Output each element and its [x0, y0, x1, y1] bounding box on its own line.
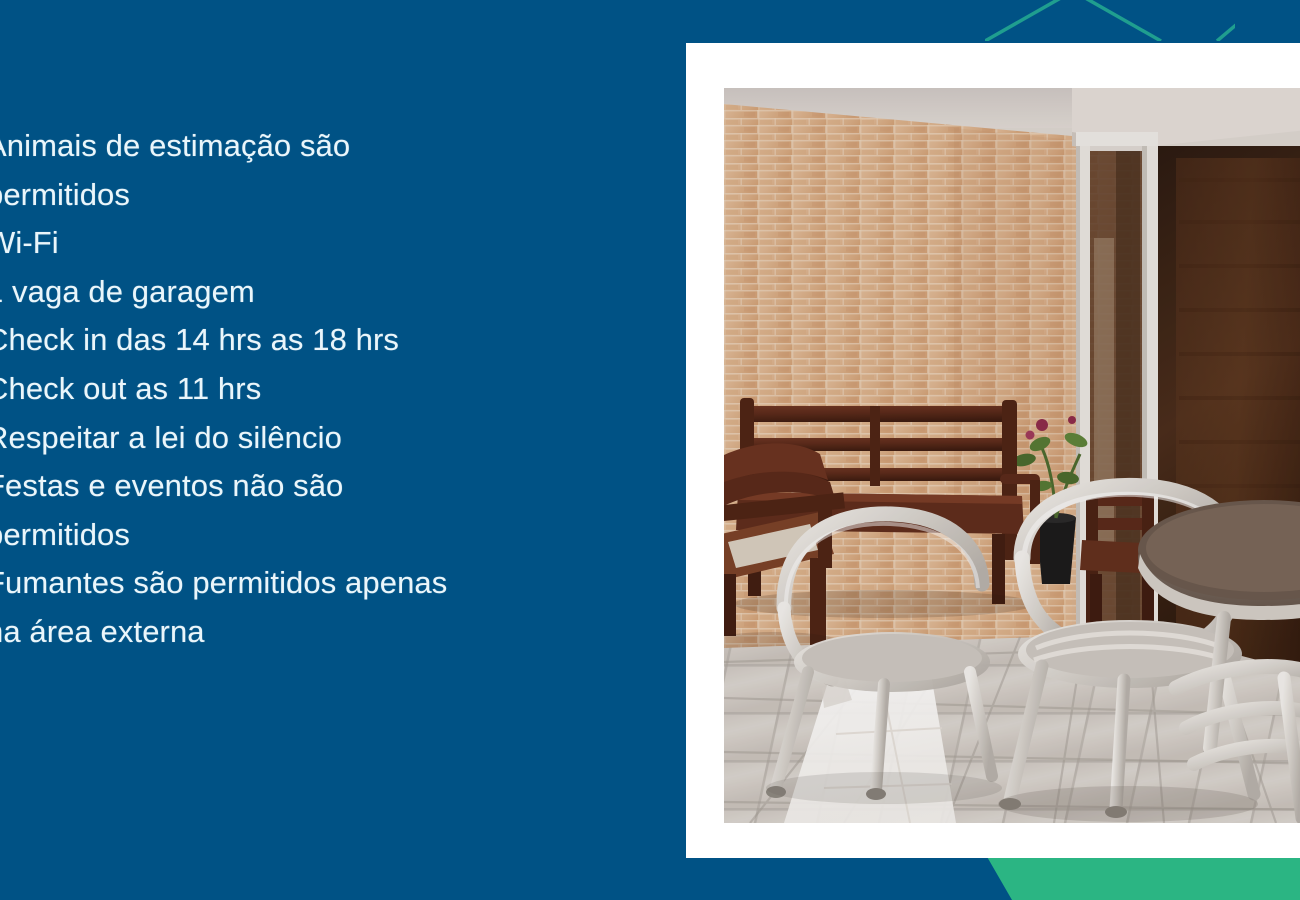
slide-canvas: Animais de estimação são permitidos Wi-F… — [0, 0, 1300, 900]
house-rules-list: Animais de estimação são permitidos Wi-F… — [0, 122, 606, 657]
house-rule-line: na área externa — [0, 608, 606, 657]
green-wedge-icon — [960, 855, 1300, 900]
house-rule-line: Animais de estimação são — [0, 122, 606, 171]
house-rule-line: Wi-Fi — [0, 219, 606, 268]
house-rule-line: Check out as 11 hrs — [0, 365, 606, 414]
house-rule-line: Festas e eventos não são — [0, 462, 606, 511]
property-photo — [724, 88, 1300, 823]
house-rule-line: permitidos — [0, 511, 606, 560]
teal-triangle-outline-icon — [985, 0, 1235, 41]
house-rule-line: Respeitar a lei do silêncio — [0, 414, 606, 463]
house-rule-line: 1 vaga de garagem — [0, 268, 606, 317]
house-rule-line: permitidos — [0, 171, 606, 220]
photo-card — [686, 43, 1300, 858]
house-rule-line: Fumantes são permitidos apenas — [0, 559, 606, 608]
house-rule-line: Check in das 14 hrs as 18 hrs — [0, 316, 606, 365]
